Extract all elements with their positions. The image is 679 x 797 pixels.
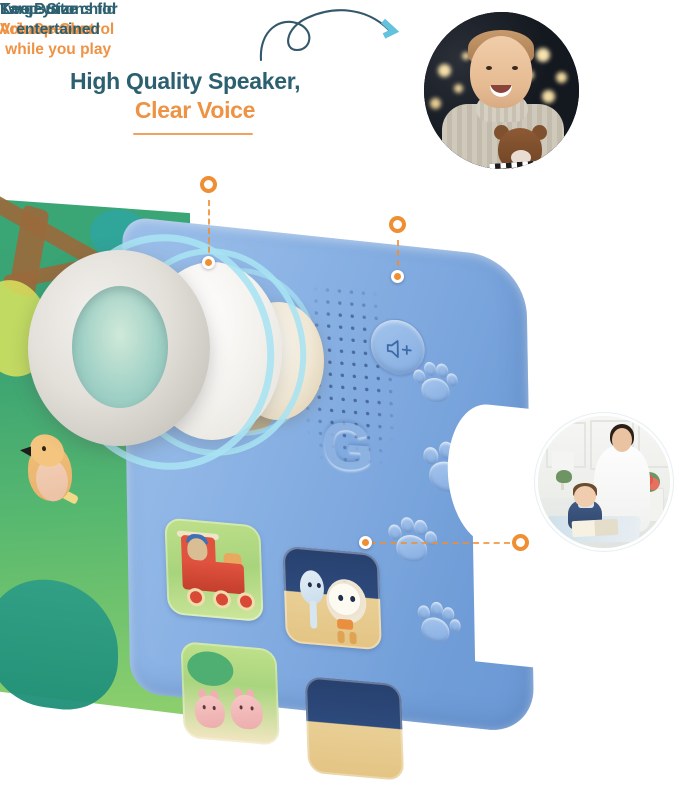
product-scene: G bbox=[0, 186, 554, 691]
callout-ring-marker[interactable] bbox=[512, 534, 529, 551]
bokeh-light bbox=[556, 72, 567, 83]
pig-eye bbox=[213, 706, 216, 710]
child-eye bbox=[512, 66, 518, 70]
paw-print-icon bbox=[411, 596, 463, 651]
bokeh-light bbox=[430, 98, 441, 109]
bokeh-light bbox=[438, 64, 451, 77]
headline-underline bbox=[133, 133, 253, 135]
callout-ring-marker[interactable] bbox=[389, 216, 406, 233]
callout-line-2: entertained bbox=[0, 20, 116, 40]
pig-eye bbox=[250, 706, 253, 710]
callout-leader-line bbox=[370, 542, 510, 544]
curly-arrow bbox=[255, 0, 410, 70]
spoon-eye bbox=[308, 582, 312, 587]
headline-line-2: Clear Voice bbox=[70, 97, 320, 124]
paw-print-icon bbox=[385, 515, 440, 566]
spoon-eye bbox=[317, 583, 321, 588]
spoon-handle bbox=[309, 600, 317, 629]
teal-tree bbox=[0, 572, 118, 716]
mother-and-child-photo bbox=[535, 413, 673, 551]
callout-line-3: while you play bbox=[0, 40, 116, 60]
dish-leg bbox=[349, 632, 356, 645]
dish-eye bbox=[350, 596, 355, 602]
callout-anchor-dot[interactable] bbox=[359, 536, 372, 549]
baby-face bbox=[574, 486, 596, 507]
bokeh-light bbox=[542, 90, 555, 103]
headline-line-1: High Quality Speaker, bbox=[70, 68, 400, 95]
pig-character bbox=[230, 693, 263, 730]
callout-anchor-dot[interactable] bbox=[391, 270, 404, 283]
potted-plant bbox=[556, 470, 572, 483]
paw-print-icon bbox=[409, 360, 461, 406]
callout-keep-child-entertained: Keep your child entertained while you pl… bbox=[0, 0, 116, 59]
callout-text: Keep your child entertained while you pl… bbox=[0, 0, 116, 59]
marketing-image-stage: High Quality Speaker, Clear Voice bbox=[0, 0, 679, 691]
dish-eye bbox=[338, 595, 343, 601]
pig-eye bbox=[203, 705, 206, 709]
child-eye bbox=[486, 66, 492, 70]
bokeh-light bbox=[536, 48, 550, 62]
table-lamp bbox=[552, 452, 574, 470]
dish-bowtie bbox=[337, 619, 353, 630]
song-tile-train[interactable] bbox=[164, 517, 263, 622]
song-tile-three-little-pigs[interactable] bbox=[180, 641, 279, 746]
bush bbox=[187, 650, 234, 688]
pig-eye bbox=[239, 705, 242, 709]
page-headline: High Quality Speaker, Clear Voice bbox=[70, 68, 400, 135]
open-book bbox=[572, 519, 619, 537]
bokeh-light bbox=[454, 84, 463, 93]
callout-ring-marker[interactable] bbox=[200, 176, 217, 193]
song-tile-dish-and-spoon[interactable] bbox=[283, 546, 382, 651]
baby-with-teddy-photo bbox=[424, 12, 579, 169]
device-handle-curve bbox=[472, 491, 537, 668]
speaker-aperture bbox=[72, 286, 168, 408]
child-face bbox=[470, 36, 532, 108]
callout-anchor-dot[interactable] bbox=[202, 256, 215, 269]
mother-face bbox=[612, 428, 632, 452]
dish-leg bbox=[337, 631, 344, 644]
callout-leader-line bbox=[208, 200, 210, 262]
song-tile-extra[interactable] bbox=[305, 676, 404, 781]
pig-character bbox=[194, 694, 225, 729]
callout-line-1: Keep your child bbox=[0, 0, 116, 20]
dish-character bbox=[326, 578, 368, 626]
exploded-speaker-assembly bbox=[16, 228, 346, 498]
train-wheel bbox=[237, 592, 256, 612]
